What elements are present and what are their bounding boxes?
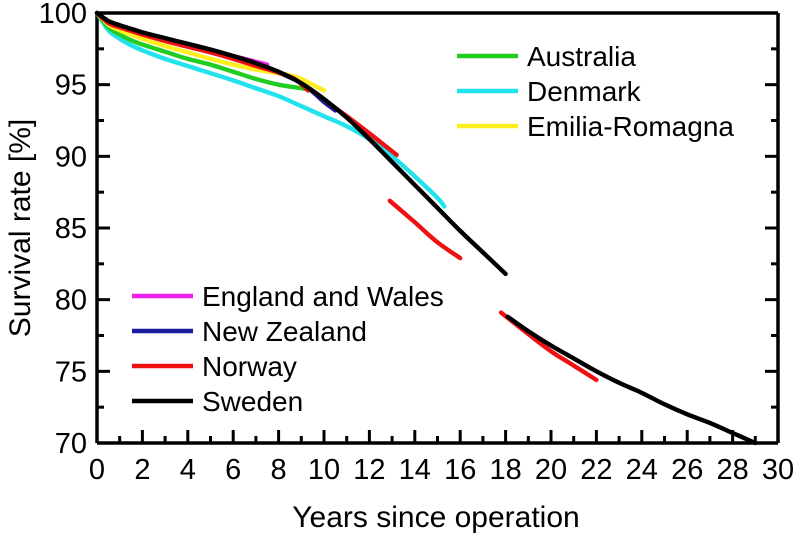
- x-tick-label: 8: [271, 454, 287, 486]
- series-line-sweden-seg1: [97, 13, 506, 274]
- x-tick-label: 26: [671, 454, 703, 486]
- x-tick-label: 2: [134, 454, 150, 486]
- legend-label-norway: Norway: [202, 351, 297, 382]
- legend-label-denmark: Denmark: [527, 76, 642, 107]
- x-tick-label: 4: [180, 454, 196, 486]
- axis-ticks: [97, 13, 778, 443]
- y-tick-label: 100: [39, 0, 87, 30]
- series-line-sweden-seg2: [508, 317, 755, 443]
- y-tick-label: 85: [55, 213, 87, 245]
- x-tick-label: 28: [716, 454, 748, 486]
- x-tick-label: 6: [225, 454, 241, 486]
- x-tick-label: 12: [353, 454, 385, 486]
- x-tick-label: 10: [308, 454, 340, 486]
- legend-label-england-and-wales: England and Wales: [202, 281, 444, 312]
- x-tick-label: 20: [535, 454, 567, 486]
- x-tick-label: 30: [762, 454, 793, 486]
- y-tick-label: 95: [55, 70, 87, 102]
- series-line-norway-seg1: [97, 13, 308, 90]
- y-tick-label: 70: [55, 428, 87, 460]
- x-tick-label: 0: [89, 454, 105, 486]
- x-axis-title: Years since operation: [292, 501, 579, 534]
- survival-rate-line-chart: 0246810121416182022242628307075808590951…: [0, 0, 793, 535]
- chart-figure: 0246810121416182022242628307075808590951…: [0, 0, 793, 535]
- data-series-layer: [97, 13, 755, 443]
- x-tick-label: 16: [444, 454, 476, 486]
- legend-label-emilia-romagna: Emilia-Romagna: [527, 111, 734, 142]
- x-tick-label: 22: [580, 454, 612, 486]
- y-tick-label: 75: [55, 356, 87, 388]
- x-tick-label: 14: [399, 454, 431, 486]
- y-tick-label: 90: [55, 141, 87, 173]
- legend-label-australia: Australia: [527, 41, 636, 72]
- series-line-norway-seg3: [390, 201, 460, 258]
- x-tick-label: 24: [626, 454, 658, 486]
- y-tick-label: 80: [55, 285, 87, 317]
- legend-lower-block: England and WalesNew ZealandNorwaySweden: [132, 281, 444, 417]
- legend-upper-block: AustraliaDenmarkEmilia-Romagna: [457, 41, 734, 142]
- plot-frame: [97, 13, 778, 443]
- x-tick-label: 18: [489, 454, 521, 486]
- y-axis-title: Survival rate [%]: [4, 119, 37, 337]
- legend-label-sweden: Sweden: [202, 386, 303, 417]
- legend-label-new-zealand: New Zealand: [202, 316, 367, 347]
